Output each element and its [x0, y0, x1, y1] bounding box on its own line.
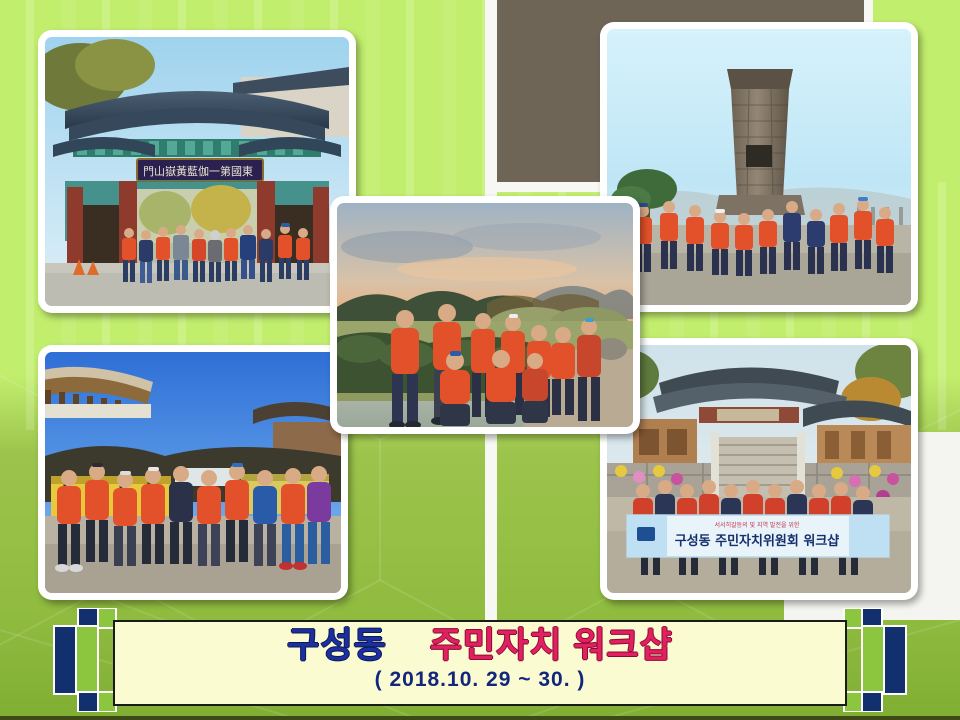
- svg-text:구성동 주민자치위원회 워크샵: 구성동 주민자치위원회 워크샵: [675, 533, 840, 549]
- slide-canvas: 門山嶽黃藍伽一第國東: [0, 0, 960, 720]
- photo-dawn-pavilion-image: [45, 352, 341, 593]
- photo-bulguksa-banner-image: 서서히갈등의 및 지역 발전을 위한 구성동 주민자치위원회 워크샵: [607, 345, 911, 593]
- title-banner: 구성동 주민자치 워크샵 ( 2018.10. 29 ~ 30. ): [113, 620, 847, 706]
- slide-date: ( 2018.10. 29 ~ 30. ): [115, 668, 845, 692]
- title-event: 주민자치 워크샵: [430, 626, 673, 665]
- photo-temple-gate-image: 門山嶽黃藍伽一第國東: [45, 37, 349, 306]
- photo-temple-gate[interactable]: 門山嶽黃藍伽一第國東: [38, 30, 356, 313]
- slide-title: 구성동 주민자치 워크샵: [115, 625, 845, 667]
- bracket-right-decoration: [842, 608, 916, 712]
- bottom-rule: [0, 716, 960, 720]
- photo-sunset-field[interactable]: [330, 196, 640, 434]
- svg-text:門山嶽黃藍伽一第國東: 門山嶽黃藍伽一第國東: [143, 164, 253, 178]
- title-banner-area: 구성동 주민자치 워크샵 ( 2018.10. 29 ~ 30. ): [0, 608, 960, 720]
- photo-stone-tower[interactable]: [600, 22, 918, 312]
- svg-text:서서히갈등의 및 지역 발전을 위한: 서서히갈등의 및 지역 발전을 위한: [715, 521, 800, 529]
- title-district: 구성동: [287, 626, 387, 665]
- photo-dawn-pavilion[interactable]: [38, 345, 348, 600]
- photo-bulguksa-banner[interactable]: 서서히갈등의 및 지역 발전을 위한 구성동 주민자치위원회 워크샵: [600, 338, 918, 600]
- bracket-left-decoration: [44, 608, 118, 712]
- photo-sunset-field-image: [337, 203, 633, 427]
- photo-stone-tower-image: [607, 29, 911, 305]
